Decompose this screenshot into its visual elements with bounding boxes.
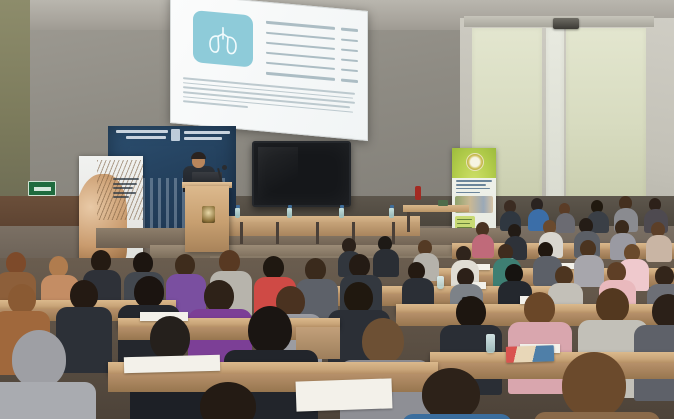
banner-right-text [456,180,492,196]
magazine [506,345,555,363]
water-bottle [486,334,495,353]
table-leg [392,222,395,244]
paper-stack [296,378,393,411]
left-wall-strip [0,0,30,200]
lecture-hall-photo [0,0,674,419]
side-table [403,205,469,212]
ceiling-fixture-icon [553,18,579,29]
wall-television [252,141,351,207]
side-table-leg [407,212,410,232]
water-bottle [389,208,394,218]
window-blind-panel [546,28,564,210]
circular-seal-icon [466,153,484,171]
presenter-hair [191,152,206,159]
water-bottle [339,208,344,218]
slide-data-table [266,19,358,88]
institution-emblem-icon [202,206,215,223]
water-bottle [437,276,444,289]
window-blind-panel [566,28,646,210]
banner-left-text [113,178,139,201]
fire-extinguisher-icon [415,186,421,200]
projection-screen [170,0,368,141]
lungs-icon [193,10,253,67]
backdrop-university-name [184,131,230,142]
exit-sign [28,181,56,196]
screen-reflection [258,147,298,201]
water-bottle [287,208,292,218]
water-bottle [235,208,240,218]
table-leg [316,222,319,244]
banner-left [79,156,143,268]
paper-stack [124,355,220,374]
table-leg [276,222,279,244]
building-crest-icon [171,129,180,141]
side-table-item [438,200,448,206]
microphone-head-icon [222,165,227,170]
table-leg [240,222,243,244]
